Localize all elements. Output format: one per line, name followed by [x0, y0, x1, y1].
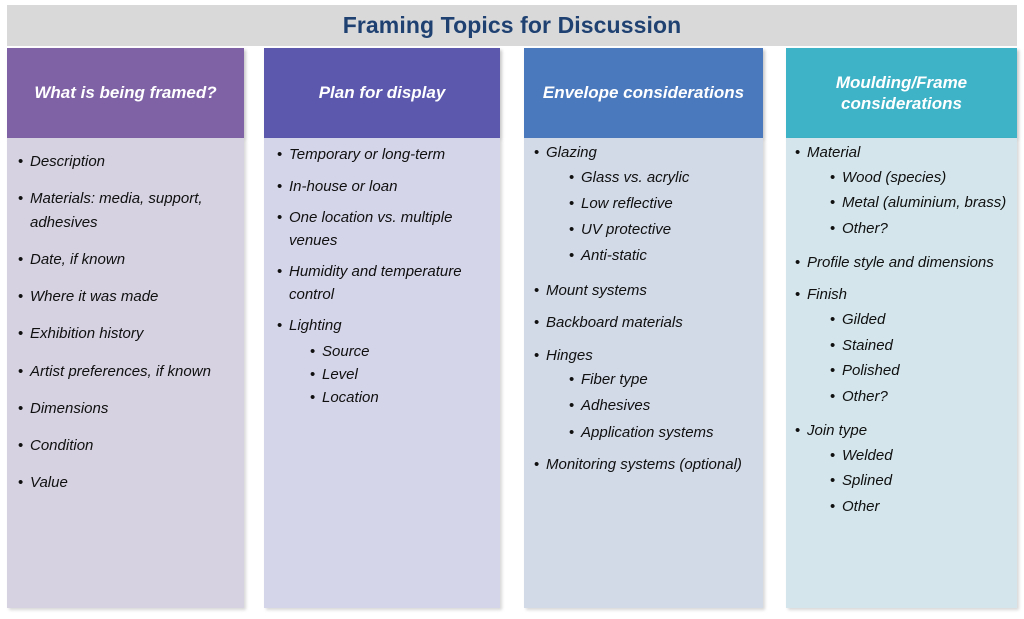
sub-list-item: Other? — [829, 384, 1009, 410]
sub-list-item: Gilded — [829, 307, 1009, 333]
list-item: Temporary or long-term — [276, 144, 492, 167]
bullet-list: Material Wood (species) Metal (aluminium… — [794, 142, 1009, 520]
list-item: One location vs. multiple venues — [276, 207, 492, 252]
sub-list-item: Fiber type — [568, 367, 755, 393]
sub-list-item: Glass vs. acrylic — [568, 165, 755, 191]
sub-list-item: Polished — [829, 358, 1009, 384]
column-what-is-being-framed: What is being framed? Description Materi… — [7, 48, 244, 608]
list-item: Lighting Source Level Location — [276, 315, 492, 409]
sub-list-item: Other? — [829, 216, 1009, 242]
list-item: Backboard materials — [533, 312, 755, 335]
sub-list-item: Low reflective — [568, 191, 755, 217]
column-header: Envelope considerations — [524, 48, 763, 138]
list-item: Humidity and temperature control — [276, 261, 492, 306]
list-item: Mount systems — [533, 280, 755, 303]
column-body: Material Wood (species) Metal (aluminium… — [786, 138, 1017, 608]
column-body: Temporary or long-term In-house or loan … — [264, 138, 500, 608]
sub-list-item: Other — [829, 494, 1009, 520]
list-item: Artist preferences, if known — [17, 360, 236, 383]
column-envelope-considerations: Envelope considerations Glazing Glass vs… — [524, 48, 763, 608]
list-item: Materials: media, support, adhesives — [17, 187, 236, 234]
list-item: In-house or loan — [276, 176, 492, 199]
list-item: Date, if known — [17, 248, 236, 271]
list-item: Finish Gilded Stained Polished Other? — [794, 284, 1009, 410]
sub-list-item: Welded — [829, 443, 1009, 469]
bullet-list: Description Materials: media, support, a… — [17, 150, 236, 495]
sub-bullet-list: Welded Splined Other — [807, 443, 1009, 520]
sub-list-item: Application systems — [568, 420, 755, 446]
column-moulding-frame-considerations: Moulding/Frame considerations Material W… — [786, 48, 1017, 608]
column-header: Plan for display — [264, 48, 500, 138]
bullet-list: Glazing Glass vs. acrylic Low reflective… — [533, 142, 755, 476]
sub-bullet-list: Fiber type Adhesives Application systems — [546, 367, 755, 446]
list-item: Description — [17, 150, 236, 173]
sub-bullet-list: Wood (species) Metal (aluminium, brass) … — [807, 165, 1009, 242]
slide-canvas: Framing Topics for Discussion What is be… — [0, 0, 1024, 619]
list-item: Material Wood (species) Metal (aluminium… — [794, 142, 1009, 242]
sub-list-item: Location — [309, 386, 492, 409]
sub-list-item: Anti-static — [568, 243, 755, 269]
page-title: Framing Topics for Discussion — [343, 12, 682, 39]
sub-list-item: Level — [309, 363, 492, 386]
list-item: Where it was made — [17, 285, 236, 308]
list-item: Exhibition history — [17, 322, 236, 345]
list-item: Profile style and dimensions — [794, 252, 1009, 275]
list-item: Dimensions — [17, 397, 236, 420]
sub-list-item: Metal (aluminium, brass) — [829, 190, 1009, 216]
list-item: Condition — [17, 434, 236, 457]
sub-list-item: UV protective — [568, 217, 755, 243]
sub-list-item: Stained — [829, 333, 1009, 359]
column-header: What is being framed? — [7, 48, 244, 138]
list-item: Monitoring systems (optional) — [533, 454, 755, 477]
sub-bullet-list: Gilded Stained Polished Other? — [807, 307, 1009, 410]
list-item: Join type Welded Splined Other — [794, 420, 1009, 520]
list-item: Hinges Fiber type Adhesives Application … — [533, 345, 755, 446]
column-header: Moulding/Frame considerations — [786, 48, 1017, 138]
sub-list-item: Adhesives — [568, 393, 755, 419]
column-body: Description Materials: media, support, a… — [7, 138, 244, 608]
list-item: Glazing Glass vs. acrylic Low reflective… — [533, 142, 755, 270]
sub-list-item: Source — [309, 340, 492, 363]
bullet-list: Temporary or long-term In-house or loan … — [276, 144, 492, 409]
list-item: Value — [17, 471, 236, 494]
sub-bullet-list: Source Level Location — [289, 340, 492, 410]
column-body: Glazing Glass vs. acrylic Low reflective… — [524, 138, 763, 608]
column-plan-for-display: Plan for display Temporary or long-term … — [264, 48, 500, 608]
sub-list-item: Wood (species) — [829, 165, 1009, 191]
sub-list-item: Splined — [829, 468, 1009, 494]
sub-bullet-list: Glass vs. acrylic Low reflective UV prot… — [546, 165, 755, 270]
slide-title-bar: Framing Topics for Discussion — [7, 5, 1017, 46]
